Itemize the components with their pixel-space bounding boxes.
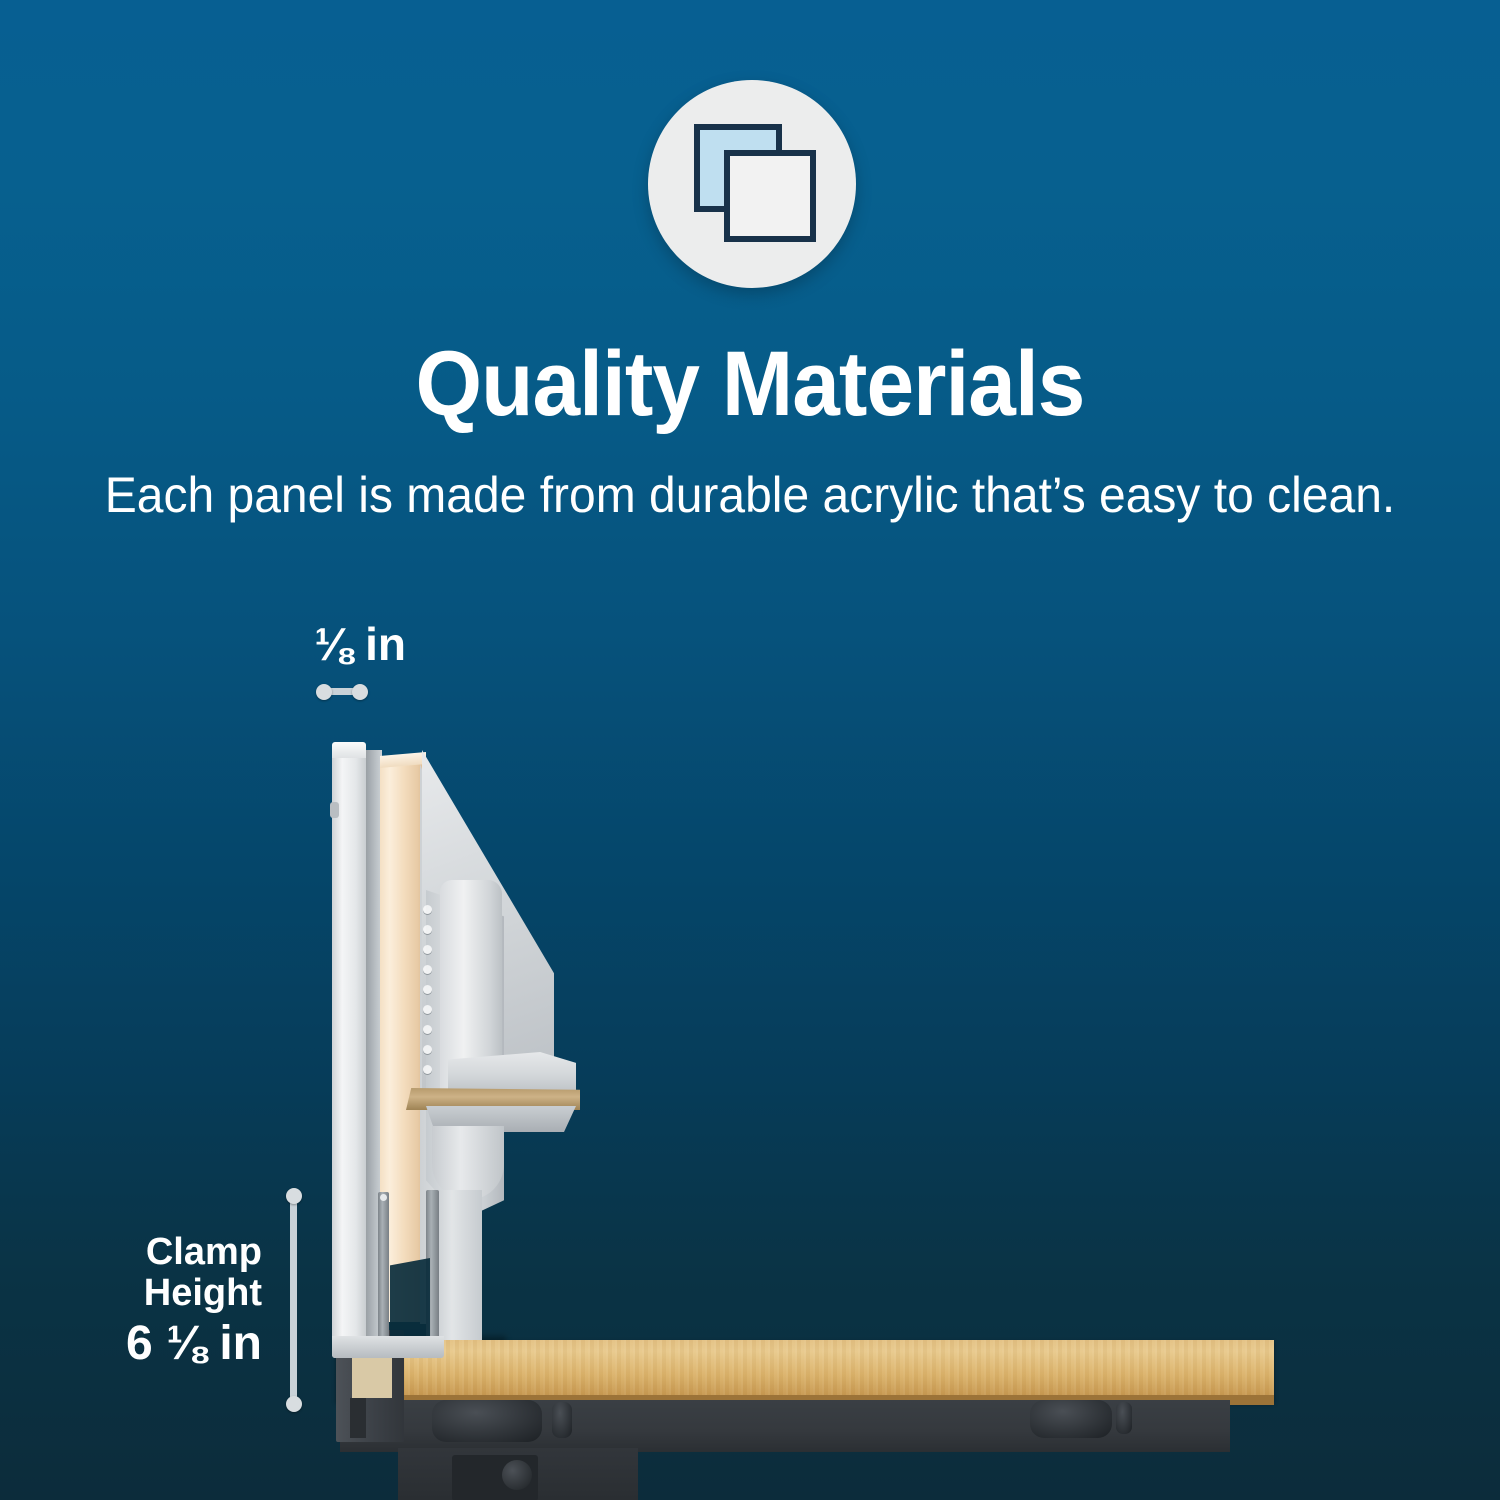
clamp-bracket-lower-slot: [350, 1398, 366, 1438]
thickness-callout-label: ⅛ in: [250, 620, 470, 670]
vertical-dimension-line: [290, 1195, 297, 1405]
clamp-arm: [448, 1052, 576, 1094]
vertical-dimension-dot-bottom: [286, 1396, 302, 1412]
horizontal-dimension-dot-left: [316, 684, 332, 700]
desk-underside-bracket-left: [552, 1402, 572, 1438]
clamp-rod-left: [378, 1192, 389, 1350]
vertical-dimension-dot-top: [286, 1188, 302, 1204]
acrylic-panel-assembly: [330, 740, 630, 1360]
horizontal-dimension-dot-right: [352, 684, 368, 700]
panel-foot-plate: [332, 1336, 444, 1358]
clamp-knob: [432, 1126, 504, 1200]
panel-screw: [330, 802, 339, 818]
acrylic-panel-top-cap: [332, 742, 366, 758]
bracket-perforations: [420, 905, 438, 1085]
acrylic-panel-edge: [332, 748, 366, 1358]
desk-leg-knob: [502, 1460, 532, 1490]
clamp-height-line1: Clamp: [146, 1231, 262, 1273]
desk-underside-hardware-left: [432, 1400, 542, 1442]
clamp-height-callout: Clamp Height 6 ⅛ in: [20, 1232, 262, 1370]
clamp-height-value: 6 ⅛ in: [20, 1318, 262, 1370]
clamp-rod-head: [380, 1194, 387, 1201]
desk-underside-hardware-right: [1030, 1400, 1112, 1438]
desk-underside-bracket-right: [1116, 1402, 1132, 1434]
clamp-height-line2: Height: [144, 1272, 262, 1314]
promo-graphic: Quality Materials Each panel is made fro…: [0, 0, 1500, 1500]
